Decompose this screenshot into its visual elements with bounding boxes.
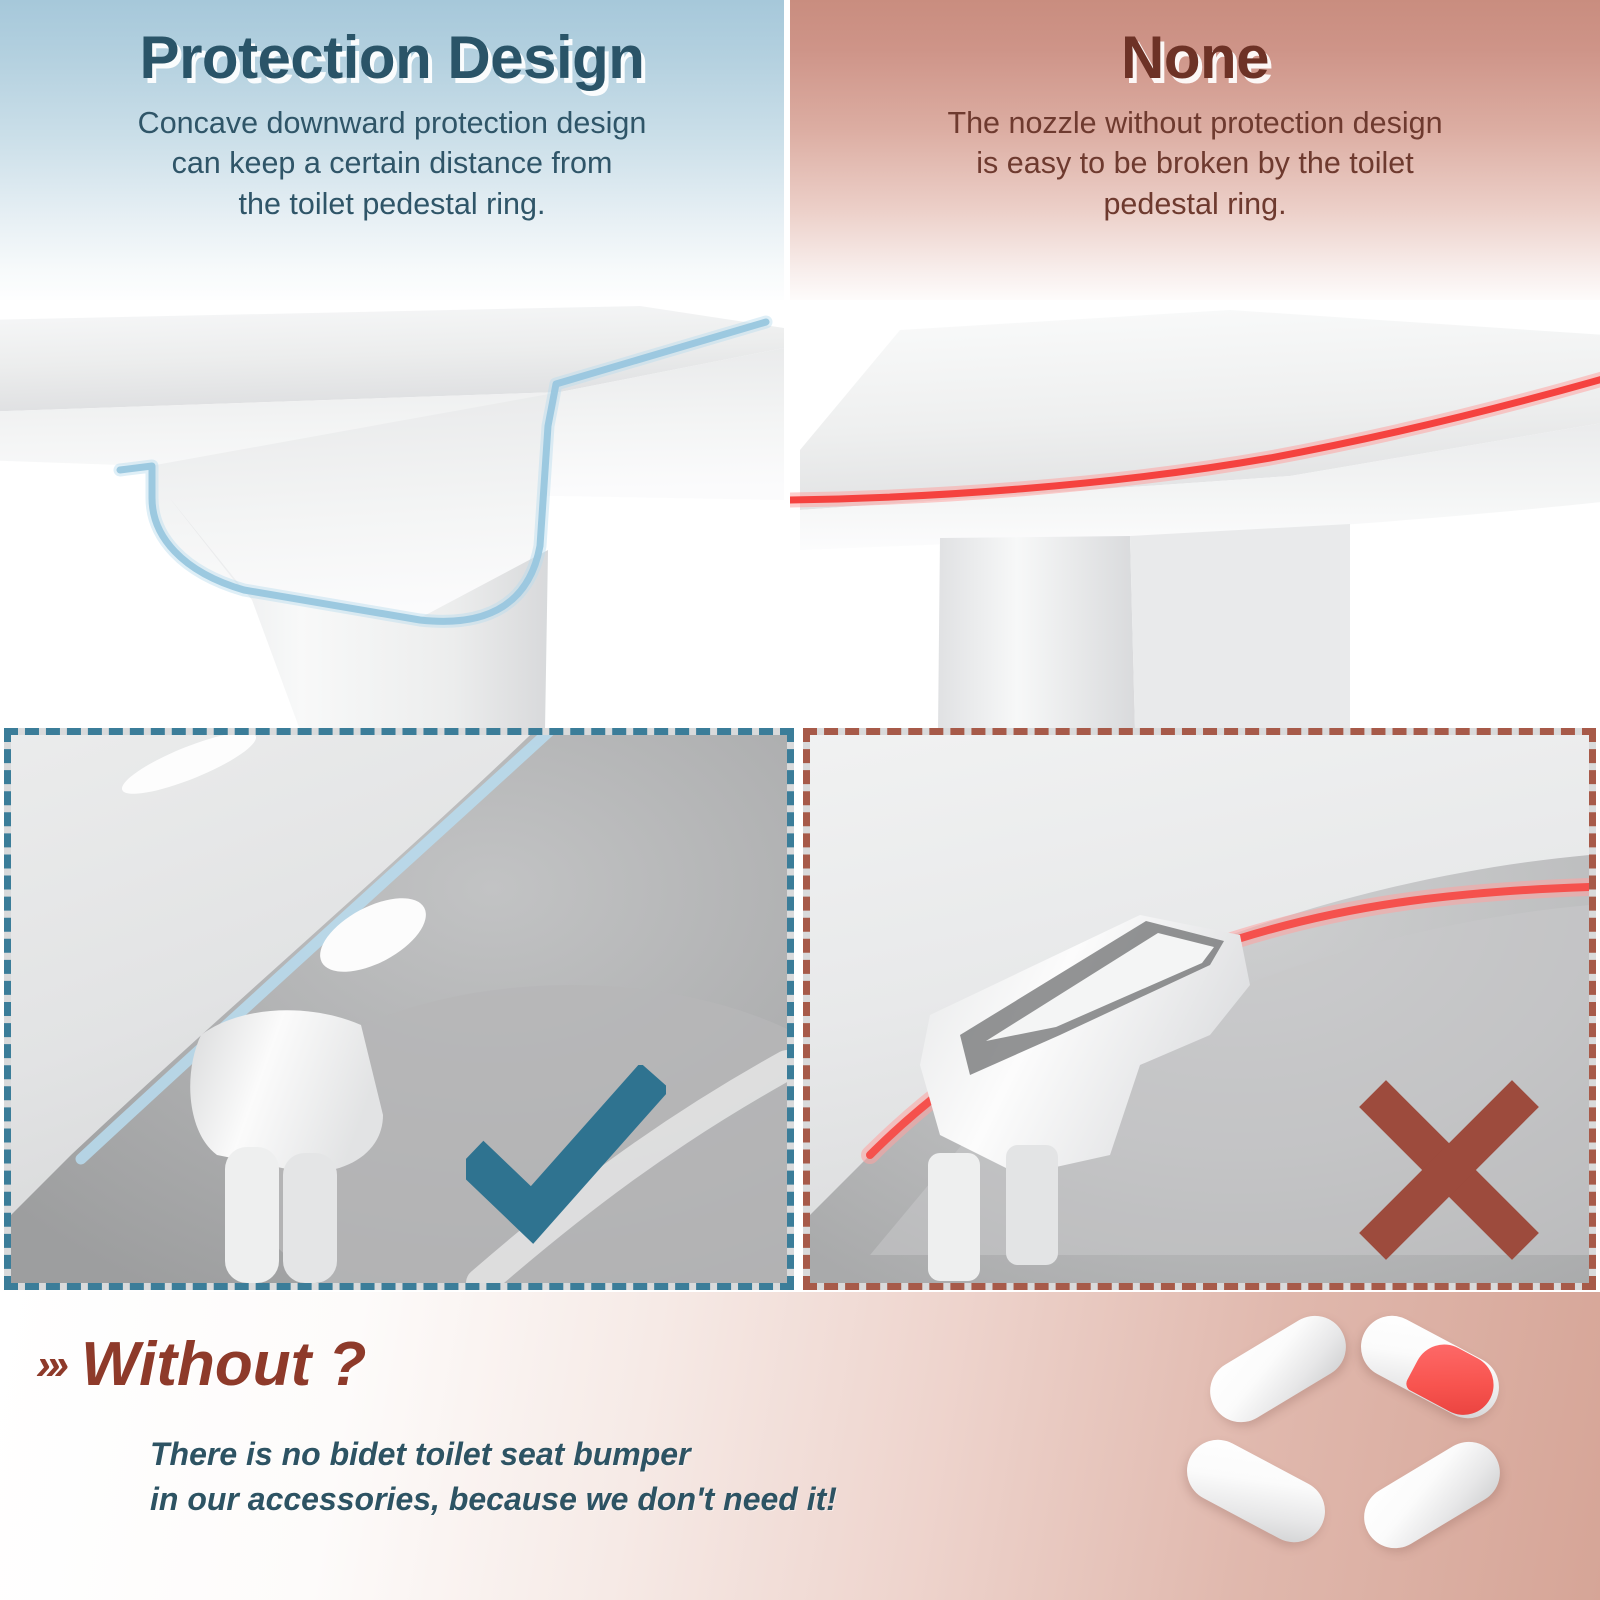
photo-protected-nozzle-profile <box>0 300 784 730</box>
closeup-frame-unprotected <box>803 728 1596 1290</box>
description-protection-design: Concave downward protection design can k… <box>0 91 784 225</box>
bumper-cluster <box>1168 1314 1588 1594</box>
description-line: is easy to be broken by the toilet <box>976 146 1413 180</box>
footer-body-line: There is no bidet toilet seat bumper <box>150 1436 691 1472</box>
page-title-none: None <box>790 0 1600 91</box>
infographic-canvas: Protection Design Concave downward prote… <box>0 0 1600 1600</box>
bumper-piece <box>1353 1430 1512 1559</box>
header-panel-none: None The nozzle without protection desig… <box>790 0 1600 308</box>
page-title-protection-design: Protection Design <box>0 0 784 91</box>
nozzle-tube <box>1006 1145 1058 1265</box>
nozzle-tube <box>283 1153 337 1283</box>
description-line: can keep a certain distance from <box>172 146 613 180</box>
unprotected-profile-illustration <box>790 300 1600 730</box>
footer-body-text: There is no bidet toilet seat bumper in … <box>150 1432 837 1523</box>
footer-band: »› Without ? There is no bidet toilet se… <box>0 1292 1600 1600</box>
description-line: The nozzle without protection design <box>947 106 1442 140</box>
chevron-right-icon: »› <box>36 1343 63 1387</box>
nozzle-tube <box>225 1147 279 1283</box>
nozzle-stem-side <box>1130 524 1350 730</box>
bumper-piece <box>1176 1429 1336 1553</box>
product-profile-row <box>0 300 1600 730</box>
footer-heading-row: »› Without ? <box>36 1334 366 1396</box>
protected-profile-illustration <box>0 300 784 730</box>
cross-icon <box>1350 1075 1550 1265</box>
description-line: Concave downward protection design <box>138 106 647 140</box>
check-icon-stroke <box>484 1091 642 1215</box>
nozzle-stem-exposed <box>938 536 1135 730</box>
nozzle-tube <box>928 1153 980 1281</box>
nozzle-body <box>190 1010 383 1172</box>
check-icon <box>466 1065 666 1255</box>
closeup-protected-illustration <box>11 735 787 1283</box>
closeup-frame-protected <box>4 728 794 1290</box>
header-panel-protection-design: Protection Design Concave downward prote… <box>0 0 784 308</box>
photo-unprotected-nozzle-profile <box>790 300 1600 730</box>
footer-body-line: in our accessories, because we don't nee… <box>150 1481 837 1517</box>
description-none: The nozzle without protection design is … <box>790 91 1600 225</box>
bumper-piece <box>1199 1304 1358 1433</box>
comparison-header-row: Protection Design Concave downward prote… <box>0 0 1600 308</box>
description-line: the toilet pedestal ring. <box>239 187 546 221</box>
closeup-comparison-row <box>0 728 1600 1292</box>
footer-heading: Without ? <box>81 1334 366 1396</box>
bumper-red-cap <box>1404 1334 1505 1425</box>
description-line: pedestal ring. <box>1103 187 1286 221</box>
bumper-piece-highlighted <box>1350 1305 1510 1429</box>
